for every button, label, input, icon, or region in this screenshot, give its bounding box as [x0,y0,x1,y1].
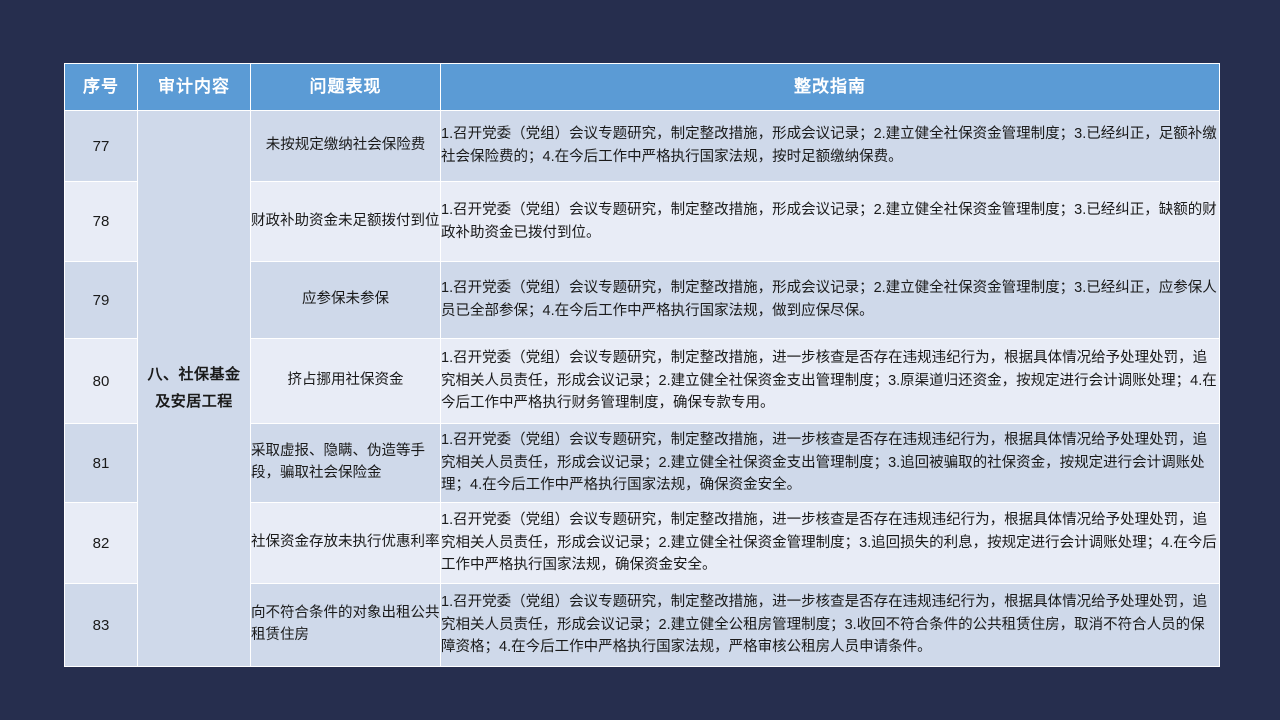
column-header-guide: 整改指南 [441,64,1220,111]
column-header-problem: 问题表现 [251,64,441,111]
cell-problem-79: 应参保未参保 [251,262,441,339]
cell-audit-category: 八、社保基金 及安居工程 [138,111,251,667]
table-header: 序号 审计内容 问题表现 整改指南 [65,64,1220,111]
cell-problem-81: 采取虚报、隐瞒、伪造等手段，骗取社会保险金 [251,424,441,503]
cell-problem-82: 社保资金存放未执行优惠利率 [251,503,441,584]
cell-seq-77: 77 [65,111,138,182]
audit-table-container: 序号 审计内容 问题表现 整改指南 77 八、社保基金 及安居工程 未按规定缴纳… [64,63,1219,658]
table-header-row: 序号 审计内容 问题表现 整改指南 [65,64,1220,111]
cell-seq-80: 80 [65,339,138,424]
category-line-2: 及安居工程 [138,389,250,415]
table-row: 77 八、社保基金 及安居工程 未按规定缴纳社会保险费 1.召开党委（党组）会议… [65,111,1220,182]
table-body: 77 八、社保基金 及安居工程 未按规定缴纳社会保险费 1.召开党委（党组）会议… [65,111,1220,667]
cell-problem-78: 财政补助资金未足额拨付到位 [251,182,441,262]
cell-guide-82: 1.召开党委（党组）会议专题研究，制定整改措施，进一步核查是否存在违规违纪行为，… [441,503,1220,584]
cell-problem-83: 向不符合条件的对象出租公共租赁住房 [251,584,441,667]
cell-seq-82: 82 [65,503,138,584]
column-header-seq: 序号 [65,64,138,111]
cell-seq-79: 79 [65,262,138,339]
category-line-1: 八、社保基金 [138,362,250,388]
cell-problem-77: 未按规定缴纳社会保险费 [251,111,441,182]
audit-rectification-table: 序号 审计内容 问题表现 整改指南 77 八、社保基金 及安居工程 未按规定缴纳… [64,63,1220,667]
cell-guide-83: 1.召开党委（党组）会议专题研究，制定整改措施，进一步核查是否存在违规违纪行为，… [441,584,1220,667]
cell-guide-80: 1.召开党委（党组）会议专题研究，制定整改措施，进一步核查是否存在违规违纪行为，… [441,339,1220,424]
cell-guide-78: 1.召开党委（党组）会议专题研究，制定整改措施，形成会议记录；2.建立健全社保资… [441,182,1220,262]
cell-guide-77: 1.召开党委（党组）会议专题研究，制定整改措施，形成会议记录；2.建立健全社保资… [441,111,1220,182]
column-header-content: 审计内容 [138,64,251,111]
cell-problem-80: 挤占挪用社保资金 [251,339,441,424]
cell-seq-78: 78 [65,182,138,262]
cell-guide-79: 1.召开党委（党组）会议专题研究，制定整改措施，形成会议记录；2.建立健全社保资… [441,262,1220,339]
slide-canvas: 序号 审计内容 问题表现 整改指南 77 八、社保基金 及安居工程 未按规定缴纳… [0,0,1280,720]
cell-seq-81: 81 [65,424,138,503]
cell-guide-81: 1.召开党委（党组）会议专题研究，制定整改措施，进一步核查是否存在违规违纪行为，… [441,424,1220,503]
cell-seq-83: 83 [65,584,138,667]
